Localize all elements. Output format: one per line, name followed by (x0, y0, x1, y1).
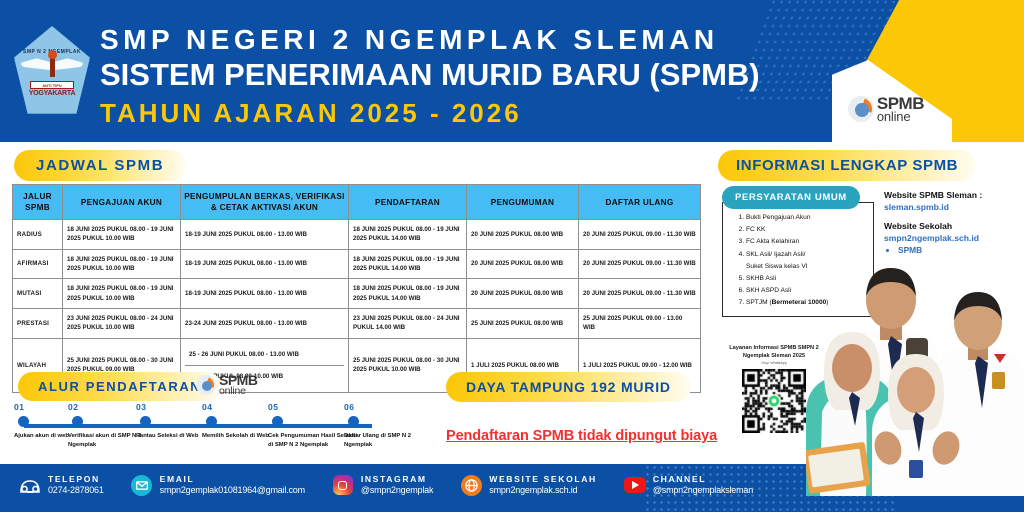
persyaratan-title: PERSYARATAN UMUM (722, 186, 860, 209)
requirement-text: Bukti Pengajuan Akun (746, 214, 811, 221)
table-row: RADIUS 18 JUNI 2025 PUKUL 08.00 - 19 JUN… (13, 220, 701, 250)
website-info-block: Website SPMB Sleman : sleman.spmb.id Web… (884, 190, 1020, 255)
spmb-logo-icon (196, 375, 216, 395)
qr-code-block: Layanan Informasi SPMB SMPN 2 Ngemplak S… (712, 344, 836, 433)
step-dot-icon (206, 416, 217, 427)
requirement-text: SKHB Asli (746, 275, 776, 282)
contact-instagram[interactable]: INSTAGRAM @smpn2ngemplak (331, 473, 433, 497)
requirement-text-cont: Suket Siswa kelas VI (746, 261, 867, 273)
list-item: SPTJM (Bermeterai 10000) (746, 297, 867, 309)
requirement-text: SPTJM ( (746, 299, 772, 306)
cell-daftar-ulang: 20 JUNI 2025 PUKUL 09.00 - 11.30 WIB (579, 249, 701, 279)
step-dot-icon (272, 416, 283, 427)
table-row: AFIRMASI 18 JUNI 2025 PUKUL 08.00 - 19 J… (13, 249, 701, 279)
spmb-badge-subtitle: online (877, 111, 924, 123)
contact-label: CHANNEL (653, 474, 753, 485)
logo-ribbon-text: ANTI TIPU (30, 81, 74, 89)
daya-tampung-label: DAYA TAMPUNG 192 MURID (446, 372, 691, 402)
cell-daftar-ulang: 20 JUNI 2025 PUKUL 09.00 - 11.30 WIB (579, 279, 701, 309)
col-berkas: PENGUMPULAN BERKAS, VERIFIKASI & CETAK A… (181, 185, 349, 220)
col-daftar-ulang: DAFTAR ULANG (579, 185, 701, 220)
contact-label: INSTAGRAM (361, 474, 433, 485)
free-registration-notice: Pendaftaran SPMB tidak dipungut biaya (446, 428, 717, 444)
contact-value: 0274-2878061 (48, 485, 104, 497)
school-name: SMP NEGERI 2 NGEMPLAK SLEMAN (100, 24, 760, 56)
col-pengajuan: PENGAJUAN AKUN (63, 185, 181, 220)
requirement-text: FC KK (746, 226, 765, 233)
cell-berkas: 18-19 JUNI 2025 PUKUL 08.00 - 13.00 WIB (181, 279, 349, 309)
cell-pengajuan: 23 JUNI 2025 PUKUL 08.00 - 24 JUNI 2025 … (63, 308, 181, 338)
phone-icon (18, 473, 42, 497)
requirement-text: FC Akta Kelahiran (746, 238, 799, 245)
cell-daftar-ulang: 20 JUNI 2025 PUKUL 09.00 - 11.30 WIB (579, 220, 701, 250)
list-item: Bukti Pengajuan Akun (746, 212, 867, 224)
cell-pengajuan: 18 JUNI 2025 PUKUL 08.00 - 19 JUNI 2025 … (63, 220, 181, 250)
qr-code-image[interactable] (742, 369, 806, 433)
contact-website[interactable]: WEBSITE SEKOLAH smpn2ngemplak.sch.id (459, 473, 597, 497)
persyaratan-list-box: Bukti Pengajuan Akun FC KK FC Akta Kelah… (722, 202, 874, 317)
cell-jalur: RADIUS (13, 220, 63, 250)
list-item: FC Akta Kelahiran (746, 236, 867, 248)
website-spmb-label: Website SPMB Sleman : (884, 190, 1020, 202)
cell-pendaftaran: 18 JUNI 2025 PUKUL 08.00 - 19 JUNI 2025 … (349, 220, 467, 250)
alur-spmb-badge: SPMB online (196, 374, 257, 396)
cell-jalur: AFIRMASI (13, 249, 63, 279)
website-school-link[interactable]: smpn2ngemplak.sch.id (884, 233, 1020, 245)
email-icon (130, 473, 154, 497)
cell-pengumuman: 20 JUNI 2025 PUKUL 08.00 WIB (467, 279, 579, 309)
cell-berkas: 18-19 JUNI 2025 PUKUL 08.00 - 13.00 WIB (181, 249, 349, 279)
step-06: 06 Daftar Ulang di SMP N 2 Ngemplak (344, 402, 434, 450)
step-dot-icon (72, 416, 83, 427)
website-school-label: Website Sekolah (884, 221, 1020, 233)
table-row: MUTASI 18 JUNI 2025 PUKUL 08.00 - 19 JUN… (13, 279, 701, 309)
alur-steps: 01 Ajukan akun di web 02 Verifikasi akun… (14, 402, 394, 464)
cell-pendaftaran: 18 JUNI 2025 PUKUL 08.00 - 19 JUNI 2025 … (349, 279, 467, 309)
cell-pengumuman: 25 JUNI 2025 PUKUL 08.00 WIB (467, 308, 579, 338)
instagram-icon (331, 473, 355, 497)
cell-daftar-ulang: 25 JUNI 2025 PUKUL 09.00 - 13.00 WIB (579, 308, 701, 338)
contact-label: TELEPON (48, 474, 104, 485)
school-logo: SMP N 2 NGEMPLAK ANTI TIPU YOGYAKARTA (14, 26, 90, 114)
contact-label: EMAIL (160, 474, 305, 485)
list-item: FC KK (746, 224, 867, 236)
contact-youtube[interactable]: CHANNEL @smpn2ngemplaksleman (623, 473, 753, 497)
col-jalur: JALUR SPMB (13, 185, 63, 220)
cell-berkas: 23-24 JUNI 2025 PUKUL 08.00 - 13.00 WIB (181, 308, 349, 338)
step-dot-icon (140, 416, 151, 427)
cell-pendaftaran: 23 JUNI 2025 PUKUL 08.00 - 24 JUNI PUKUL… (349, 308, 467, 338)
spmb-online-badge: SPMB online (848, 96, 924, 123)
contact-email[interactable]: EMAIL smpn2gemplak01081964@gmail.com (130, 473, 305, 497)
contact-value: @smpn2ngemplaksleman (653, 485, 753, 497)
requirement-bold: Bermeterai 10000 (772, 299, 827, 306)
teal-decoration (884, 348, 1024, 468)
poster-root: SMP N 2 NGEMPLAK ANTI TIPU YOGYAKARTA SM… (0, 0, 1024, 512)
footer-contact-bar: TELEPON 0274-2878061 EMAIL smpn2gemplak0… (0, 464, 1024, 512)
requirement-after: ) (826, 299, 828, 306)
contact-value: smpn2ngemplak.sch.id (489, 485, 597, 497)
alur-section-label: ALUR PENDAFTARAN (18, 372, 221, 401)
step-dot-icon (18, 416, 29, 427)
alur-spmb-subtitle: online (219, 387, 257, 396)
cell-berkas-part-a: 25 - 26 JUNI PUKUL 08.00 - 13.00 WIB (185, 344, 344, 366)
globe-icon (459, 473, 483, 497)
schedule-table: JALUR SPMB PENGAJUAN AKUN PENGUMPULAN BE… (12, 184, 701, 393)
table-row: PRESTASI 23 JUNI 2025 PUKUL 08.00 - 24 J… (13, 308, 701, 338)
qr-caption-line1: Layanan Informasi SPMB SMPN 2 (712, 344, 836, 352)
cell-berkas: 18-19 JUNI 2025 PUKUL 08.00 - 13.00 WIB (181, 220, 349, 250)
schedule-table-wrap: JALUR SPMB PENGAJUAN AKUN PENGUMPULAN BE… (12, 184, 700, 393)
qr-caption-sub: Grup WhatsApp (712, 361, 836, 365)
informasi-section-label: INFORMASI LENGKAP SPMB (718, 150, 976, 181)
contact-label: WEBSITE SEKOLAH (489, 474, 597, 485)
spmb-logo-icon (848, 96, 874, 122)
list-item: SKHB Asli (746, 273, 867, 285)
qr-caption-line2: Ngemplak Sleman 2025 (712, 352, 836, 360)
step-number: 06 (344, 402, 434, 412)
system-title: SISTEM PENERIMAAN MURID BARU (SPMB) (100, 57, 760, 93)
website-school-sub-item: SPMB (898, 245, 1020, 255)
contact-phone[interactable]: TELEPON 0274-2878061 (18, 473, 104, 497)
cell-jalur: PRESTASI (13, 308, 63, 338)
cell-pendaftaran: 18 JUNI 2025 PUKUL 08.00 - 19 JUNI 2025 … (349, 249, 467, 279)
cell-jalur: MUTASI (13, 279, 63, 309)
youtube-icon (623, 473, 647, 497)
cell-pengajuan: 18 JUNI 2025 PUKUL 08.00 - 19 JUNI 2025 … (63, 279, 181, 309)
list-item: SKH ASPD Asli (746, 285, 867, 297)
col-pengumuman: PENGUMUMAN (467, 185, 579, 220)
col-pendaftaran: PENDAFTARAN (349, 185, 467, 220)
cell-pengajuan: 18 JUNI 2025 PUKUL 08.00 - 19 JUNI 2025 … (63, 249, 181, 279)
contact-value: smpn2gemplak01081964@gmail.com (160, 485, 305, 497)
cell-pengumuman: 20 JUNI 2025 PUKUL 08.00 WIB (467, 249, 579, 279)
academic-year: TAHUN AJARAN 2025 - 2026 (100, 98, 760, 129)
cell-pengumuman: 20 JUNI 2025 PUKUL 08.00 WIB (467, 220, 579, 250)
step-dot-icon (348, 416, 359, 427)
jadwal-section-label: JADWAL SPMB (14, 150, 186, 181)
contact-value: @smpn2ngemplak (361, 485, 433, 497)
table-header-row: JALUR SPMB PENGAJUAN AKUN PENGUMPULAN BE… (13, 185, 701, 220)
persyaratan-card: PERSYARATAN UMUM Bukti Pengajuan Akun FC… (722, 186, 874, 317)
logo-torch-icon (50, 57, 55, 77)
requirement-text: SKL Asli/ Ijazah Asli/ (746, 251, 806, 258)
step-text: Daftar Ulang di SMP N 2 Ngemplak (344, 432, 434, 450)
list-item: SKL Asli/ Ijazah Asli/ Suket Siswa kelas… (746, 249, 867, 273)
requirement-text: SKH ASPD Asli (746, 287, 791, 294)
poster-header: SMP N 2 NGEMPLAK ANTI TIPU YOGYAKARTA SM… (0, 0, 1024, 142)
logo-city-text: YOGYAKARTA (29, 90, 76, 97)
website-spmb-link[interactable]: sleman.spmb.id (884, 202, 1020, 214)
header-title-block: SMP NEGERI 2 NGEMPLAK SLEMAN SISTEM PENE… (100, 24, 760, 129)
